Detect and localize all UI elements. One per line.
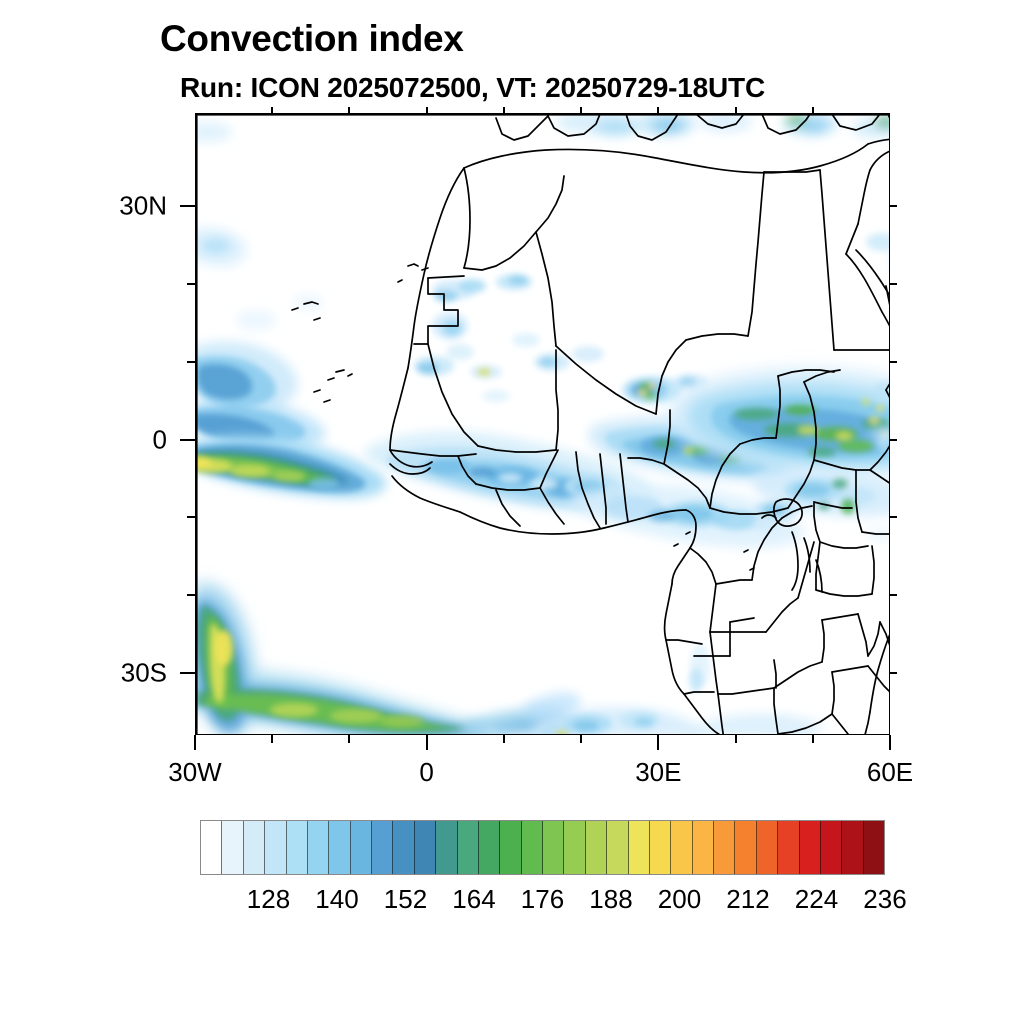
colorbar-cell[interactable] [372, 821, 393, 874]
colorbar-cell[interactable] [778, 821, 799, 874]
x-tick [657, 735, 659, 750]
y-tick-right [890, 439, 897, 441]
colorbar-tick-label: 176 [521, 884, 564, 915]
page-subtitle: Run: ICON 2025072500, VT: 20250729-18UTC [180, 72, 765, 104]
colorbar-cell[interactable] [586, 821, 607, 874]
x-tick-label: 30E [635, 757, 681, 788]
colorbar-cell[interactable] [458, 821, 479, 874]
colorbar-cell[interactable] [500, 821, 521, 874]
y-tick-right [890, 672, 897, 674]
y-tick-right [890, 361, 897, 363]
colorbar-cell[interactable] [543, 821, 564, 874]
colorbar-tick-label: 212 [726, 884, 769, 915]
x-tick-top [580, 107, 582, 113]
colorbar-cell[interactable] [287, 821, 308, 874]
x-tick-label: 0 [419, 757, 433, 788]
colorbar-cell[interactable] [629, 821, 650, 874]
page-title: Convection index [160, 18, 464, 60]
africa-map-icon [196, 114, 890, 735]
y-tick-label: 0 [153, 424, 167, 455]
y-tick-right [890, 516, 897, 518]
colorbar[interactable] [200, 820, 885, 875]
colorbar-tick-label: 140 [315, 884, 358, 915]
colorbar-cell[interactable] [308, 821, 329, 874]
x-tick [889, 735, 891, 750]
colorbar-cell[interactable] [222, 821, 243, 874]
colorbar-tick-label: 236 [863, 884, 906, 915]
x-tick-top [348, 107, 350, 113]
colorbar-tick-label: 128 [247, 884, 290, 915]
colorbar-tick-label: 164 [452, 884, 495, 915]
x-tick [348, 735, 350, 743]
colorbar-cell[interactable] [821, 821, 842, 874]
colorbar-tick-label: 224 [795, 884, 838, 915]
colorbar-cell[interactable] [757, 821, 778, 874]
colorbar-cell[interactable] [329, 821, 350, 874]
colorbar-cell[interactable] [564, 821, 585, 874]
colorbar-cell[interactable] [714, 821, 735, 874]
y-tick [187, 516, 195, 518]
map-plot-area[interactable] [195, 113, 890, 735]
y-tick [187, 594, 195, 596]
x-tick [194, 735, 196, 750]
y-tick [180, 439, 195, 441]
colorbar-cell[interactable] [842, 821, 863, 874]
colorbar-cell[interactable] [693, 821, 714, 874]
x-tick-label: 60E [867, 757, 913, 788]
colorbar-cell[interactable] [479, 821, 500, 874]
colorbar-cell[interactable] [393, 821, 414, 874]
colorbar-cell[interactable] [436, 821, 457, 874]
x-tick-top [426, 107, 428, 113]
x-tick [426, 735, 428, 750]
x-tick-top [503, 107, 505, 113]
y-tick [187, 283, 195, 285]
colorbar-cell[interactable] [735, 821, 756, 874]
colorbar-cell[interactable] [800, 821, 821, 874]
colorbar-cell[interactable] [244, 821, 265, 874]
colorbar-cell[interactable] [201, 821, 222, 874]
y-tick [180, 672, 195, 674]
x-tick-top [812, 107, 814, 113]
colorbar-cell[interactable] [522, 821, 543, 874]
figure-root: Convection index Run: ICON 2025072500, V… [0, 0, 1024, 1024]
x-tick [271, 735, 273, 743]
colorbar-cell[interactable] [864, 821, 884, 874]
x-tick [503, 735, 505, 743]
y-tick [187, 361, 195, 363]
x-tick [580, 735, 582, 743]
colorbar-cell[interactable] [607, 821, 628, 874]
y-tick-label: 30N [119, 191, 167, 222]
x-tick-top [735, 107, 737, 113]
y-tick-right [890, 283, 897, 285]
y-tick-right [890, 205, 897, 207]
y-tick-label: 30S [121, 657, 167, 688]
colorbar-cell[interactable] [351, 821, 372, 874]
x-tick-top [271, 107, 273, 113]
colorbar-tick-label: 152 [384, 884, 427, 915]
colorbar-tick-label: 188 [589, 884, 632, 915]
x-tick [735, 735, 737, 743]
colorbar-cell[interactable] [671, 821, 692, 874]
colorbar-cell[interactable] [415, 821, 436, 874]
colorbar-tick-label: 200 [658, 884, 701, 915]
colorbar-cell[interactable] [265, 821, 286, 874]
x-tick [812, 735, 814, 743]
y-tick-right [890, 594, 897, 596]
y-tick [180, 205, 195, 207]
colorbar-cell[interactable] [650, 821, 671, 874]
x-tick-top [657, 107, 659, 113]
x-tick-label: 30W [168, 757, 221, 788]
